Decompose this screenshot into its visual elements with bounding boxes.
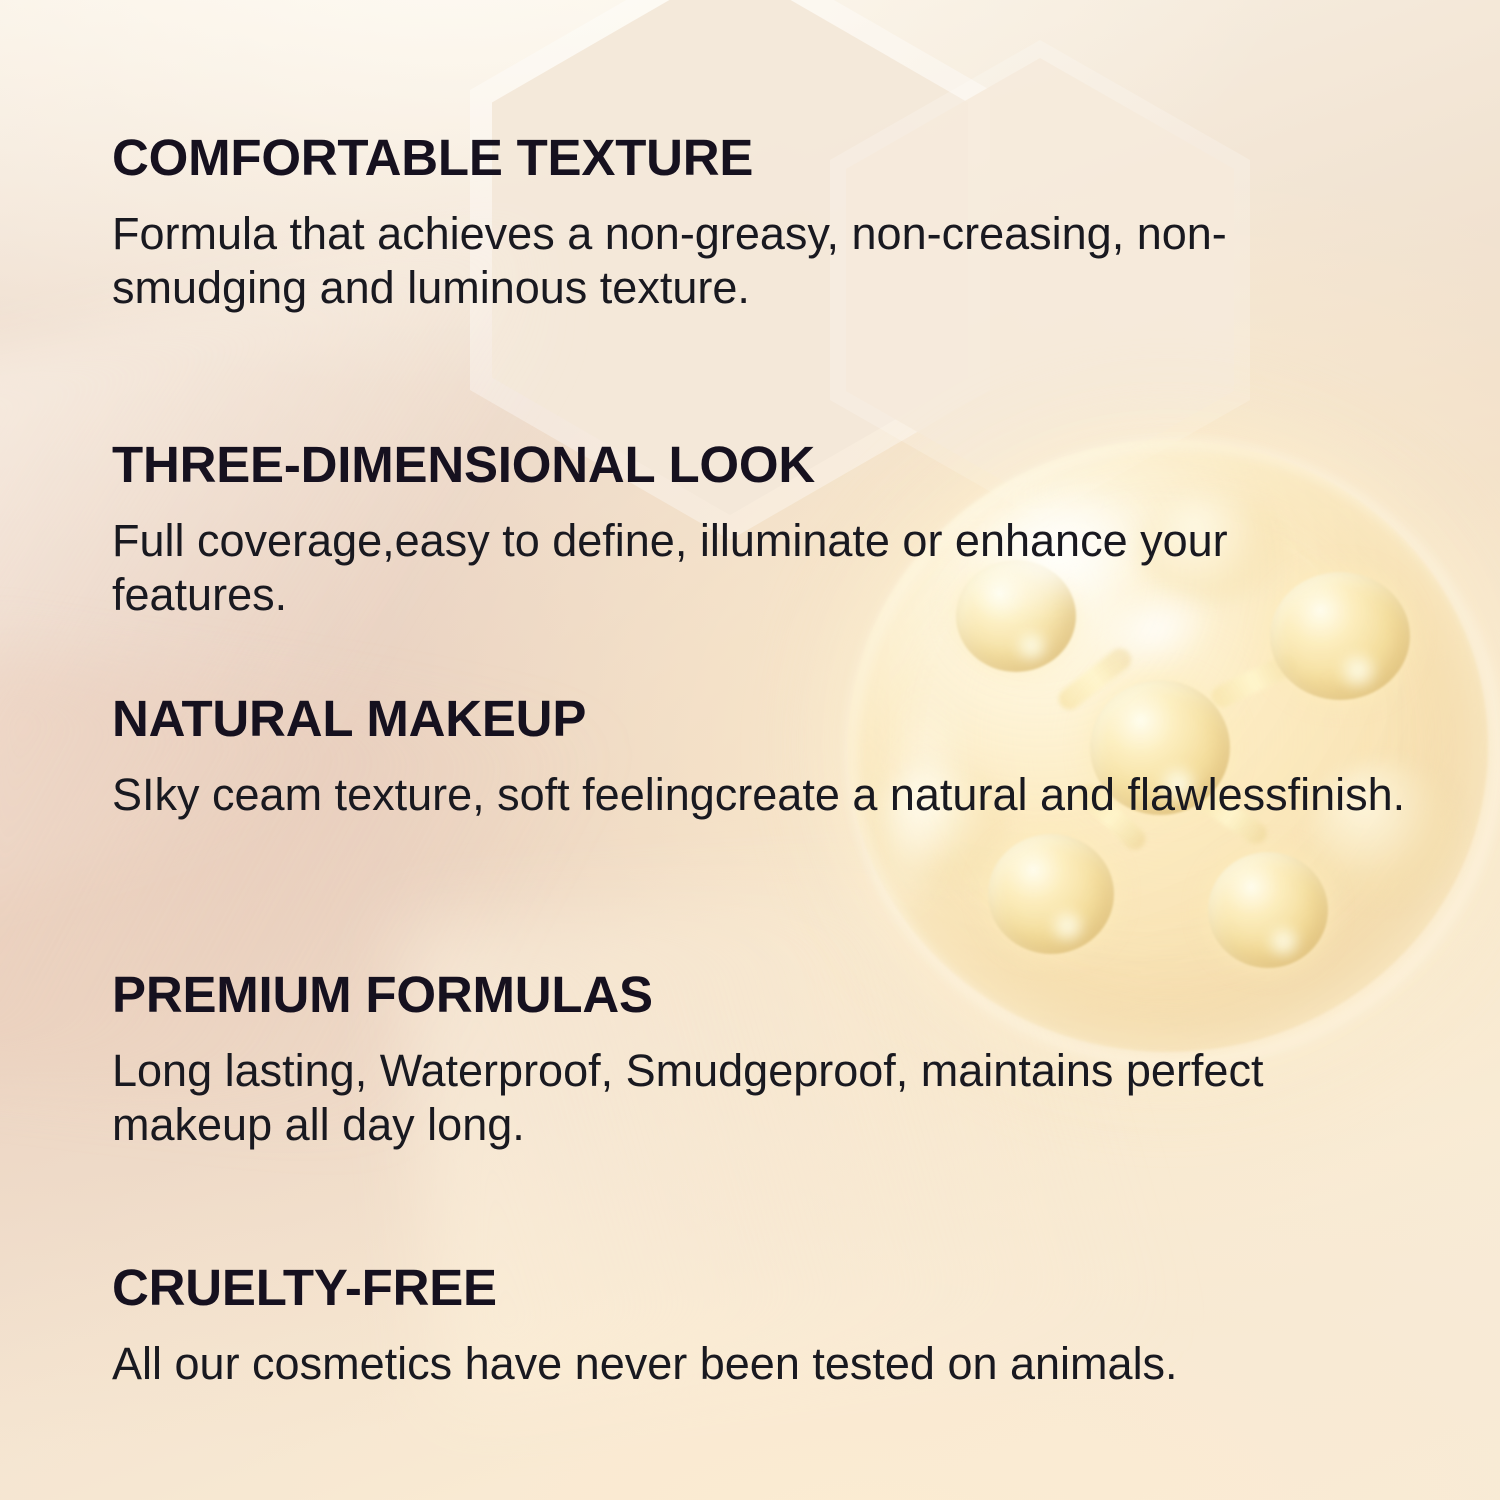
feature-description: All our cosmetics have never been tested… (112, 1337, 1412, 1392)
feature-item-comfortable-texture: COMFORTABLE TEXTURE Formula that achieve… (112, 131, 1412, 316)
feature-list: COMFORTABLE TEXTURE Formula that achieve… (0, 0, 1500, 1500)
feature-title: NATURAL MAKEUP (112, 692, 1412, 746)
feature-title: COMFORTABLE TEXTURE (112, 131, 1412, 185)
feature-description: Long lasting, Waterproof, Smudgeproof, m… (112, 1044, 1412, 1154)
feature-item-premium-formulas: PREMIUM FORMULAS Long lasting, Waterproo… (112, 968, 1412, 1153)
feature-item-cruelty-free: CRUELTY-FREE All our cosmetics have neve… (112, 1261, 1412, 1391)
feature-description: Full coverage,easy to define, illuminate… (112, 514, 1412, 624)
feature-description: Formula that achieves a non-greasy, non-… (112, 207, 1412, 317)
feature-title: PREMIUM FORMULAS (112, 968, 1412, 1022)
feature-banner: COMFORTABLE TEXTURE Formula that achieve… (0, 0, 1500, 1500)
feature-item-three-dimensional-look: THREE-DIMENSIONAL LOOK Full coverage,eas… (112, 438, 1412, 623)
feature-title: THREE-DIMENSIONAL LOOK (112, 438, 1412, 492)
feature-item-natural-makeup: NATURAL MAKEUP SIky ceam texture, soft f… (112, 692, 1412, 822)
feature-description: SIky ceam texture, soft feelingcreate a … (112, 768, 1412, 823)
feature-title: CRUELTY-FREE (112, 1261, 1412, 1315)
